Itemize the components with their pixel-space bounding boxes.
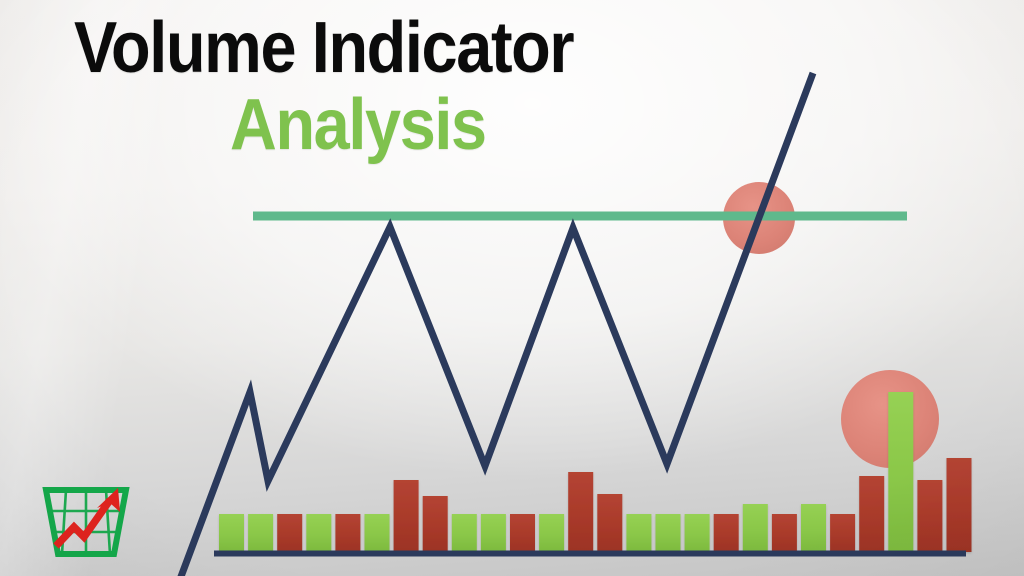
price-zigzag-line: [176, 73, 813, 576]
volume-bar: [248, 514, 273, 552]
volume-bar: [335, 514, 360, 552]
volume-bar: [510, 514, 535, 552]
volume-bar: [568, 472, 593, 552]
volume-bar: [714, 514, 739, 552]
thumbnail-canvas: Volume Indicator Analysis: [0, 0, 1024, 576]
volume-bar: [685, 514, 710, 552]
volume-bar: [626, 514, 651, 552]
volume-bar: [801, 504, 826, 552]
volume-bar: [219, 514, 244, 552]
volume-bar: [917, 480, 942, 552]
volume-bar: [656, 514, 681, 552]
volume-bar: [947, 458, 972, 552]
volume-bar: [597, 494, 622, 552]
volume-indicator-chart: [0, 0, 1024, 576]
volume-bar: [452, 514, 477, 552]
volume-bar: [539, 514, 564, 552]
volume-bar: [365, 514, 390, 552]
volume-bar: [306, 514, 331, 552]
volume-bar: [859, 476, 884, 552]
volume-bar: [772, 514, 797, 552]
volume-bar: [394, 480, 419, 552]
volume-bar: [830, 514, 855, 552]
volume-bar: [743, 504, 768, 552]
shopping-cart-growth-icon: [40, 480, 132, 560]
volume-bar: [481, 514, 506, 552]
volume-bar: [277, 514, 302, 552]
volume-bar: [423, 496, 448, 552]
volume-bar: [888, 392, 913, 552]
